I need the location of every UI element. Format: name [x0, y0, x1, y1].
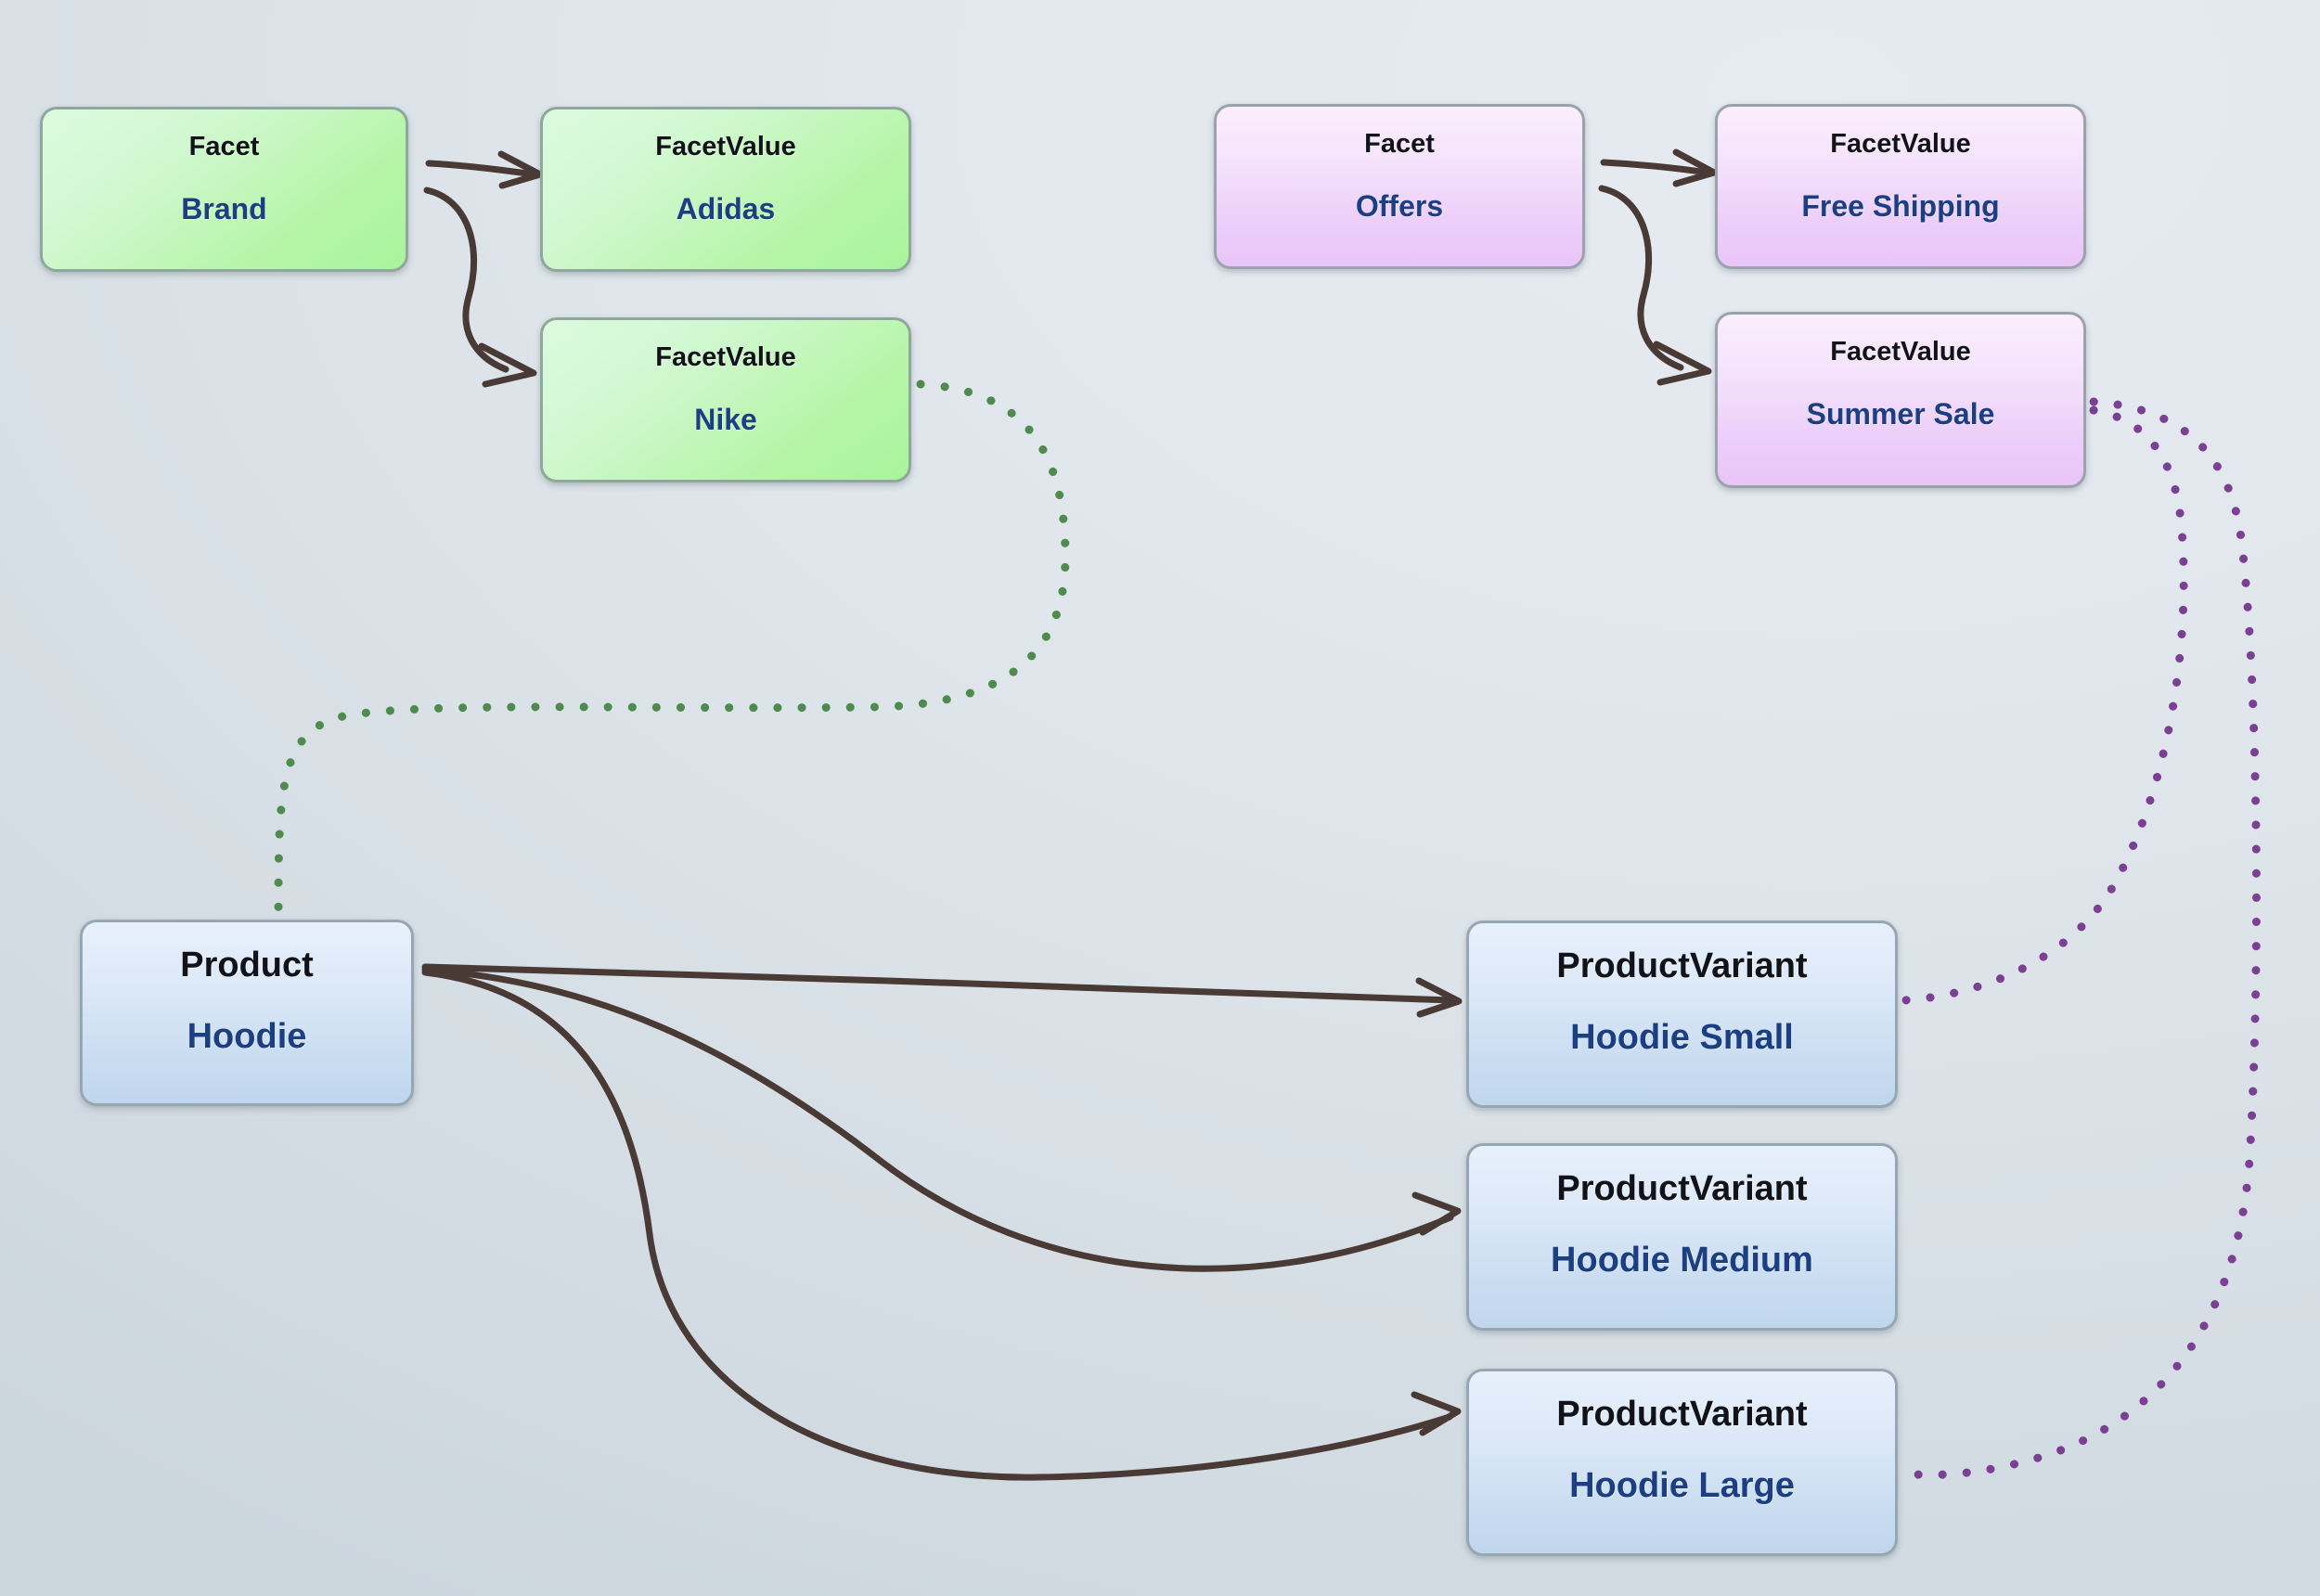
node-type-label: Product: [180, 947, 314, 983]
edge-brand-to-nike: [427, 190, 534, 384]
diagram-canvas: FacetBrandFacetValueAdidasFacetValueNike…: [0, 0, 2320, 1596]
node-value-label: Hoodie Large: [1569, 1468, 1795, 1503]
edge-product-to-large: [425, 972, 1458, 1477]
node-type-label: ProductVariant: [1556, 1171, 1807, 1206]
node-variant-large[interactable]: ProductVariantHoodie Large: [1466, 1369, 1898, 1556]
node-value-label: Offers: [1356, 191, 1443, 221]
node-value-label: Brand: [181, 194, 266, 224]
node-facetvalue-summer[interactable]: FacetValueSummer Sale: [1715, 312, 2086, 488]
node-variant-small[interactable]: ProductVariantHoodie Small: [1466, 920, 1898, 1108]
node-value-label: Hoodie Medium: [1551, 1242, 1813, 1278]
node-variant-medium[interactable]: ProductVariantHoodie Medium: [1466, 1143, 1898, 1331]
node-product-hoodie[interactable]: ProductHoodie: [80, 920, 414, 1106]
node-facetvalue-adidas[interactable]: FacetValueAdidas: [540, 107, 911, 272]
edge-offers-to-summer: [1602, 188, 1708, 382]
node-facet-brand[interactable]: FacetBrand: [40, 107, 408, 272]
node-facetvalue-nike[interactable]: FacetValueNike: [540, 317, 911, 483]
edge-brand-to-adidas: [429, 154, 540, 186]
node-type-label: Facet: [1364, 131, 1435, 158]
node-type-label: Facet: [189, 134, 260, 161]
node-type-label: FacetValue: [1830, 131, 1971, 158]
edge-summer-to-small: [1904, 408, 2184, 1000]
edge-product-to-medium: [425, 969, 1458, 1488]
node-facetvalue-shipping[interactable]: FacetValueFree Shipping: [1715, 104, 2086, 269]
node-type-label: FacetValue: [655, 134, 796, 161]
node-facet-offers[interactable]: FacetOffers: [1214, 104, 1585, 269]
node-type-label: FacetValue: [655, 344, 796, 371]
node-value-label: Hoodie: [187, 1019, 307, 1054]
node-type-label: ProductVariant: [1556, 948, 1807, 984]
node-value-label: Free Shipping: [1801, 191, 1999, 221]
edge-offers-to-shipping: [1604, 152, 1714, 184]
node-value-label: Hoodie Small: [1570, 1020, 1794, 1055]
node-type-label: FacetValue: [1830, 339, 1971, 366]
node-type-label: ProductVariant: [1556, 1396, 1807, 1432]
node-value-label: Adidas: [677, 194, 776, 224]
edge-product-to-small: [425, 967, 1459, 1014]
edge-summer-to-large: [1904, 401, 2256, 1474]
node-value-label: Nike: [694, 405, 757, 434]
node-value-label: Summer Sale: [1807, 399, 1995, 429]
